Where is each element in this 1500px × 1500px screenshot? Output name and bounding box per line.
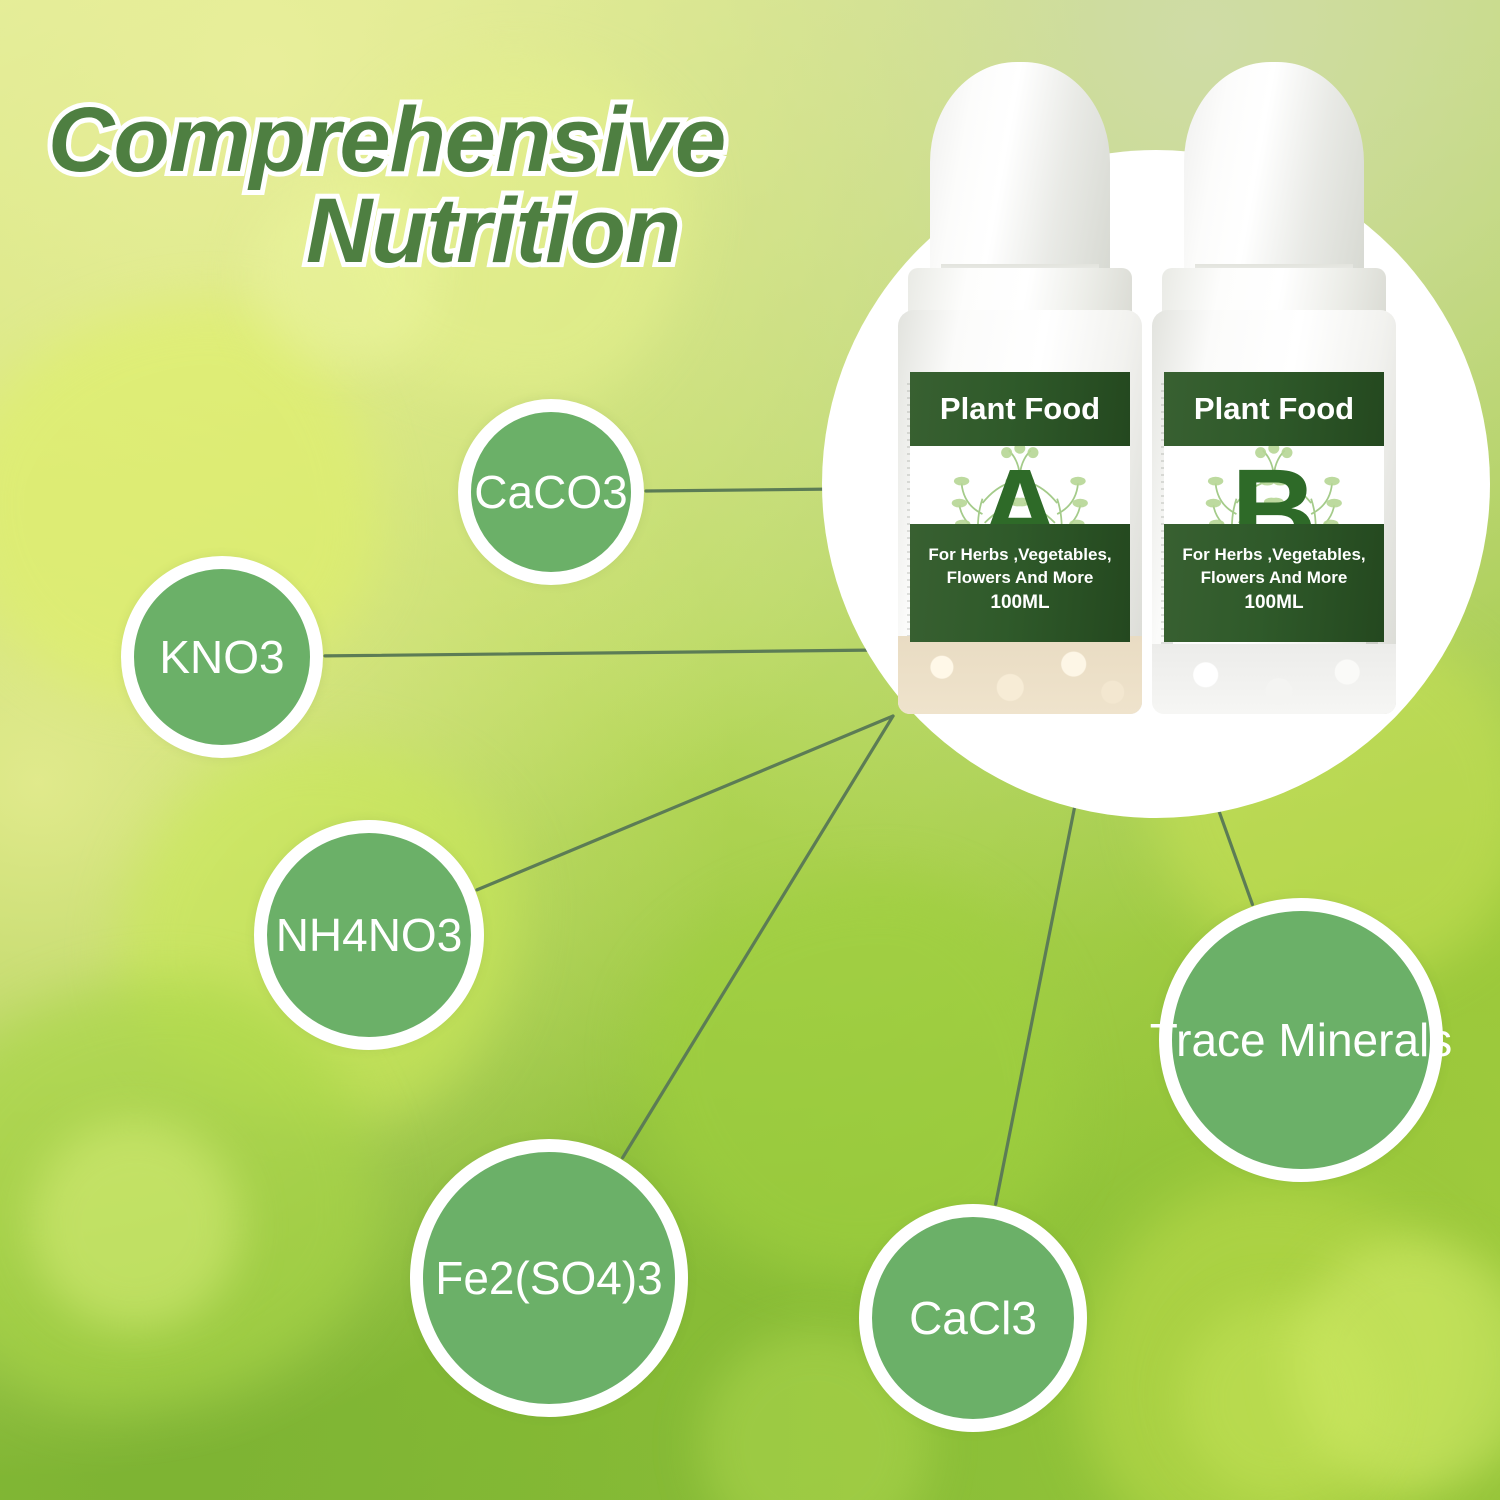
- connector-line-caco3: [646, 489, 840, 491]
- title-line-1: Comprehensive: [48, 89, 725, 191]
- nutrient-bubble-kno3[interactable]: KNO3: [121, 556, 323, 758]
- bottle-a-usage-line-2: Flowers And More: [910, 567, 1130, 590]
- bottle-a-brand-band: Plant Food: [910, 372, 1130, 446]
- connector-line-nh4no3: [477, 716, 893, 890]
- bottle-b-cap: [1184, 62, 1364, 280]
- bottle-a[interactable]: Plant Food: [898, 62, 1142, 714]
- bottle-a-body: Plant Food: [898, 310, 1142, 714]
- nutrient-bubble-label: CaCO3: [474, 465, 627, 519]
- nutrient-bubble-caco3[interactable]: CaCO3: [458, 399, 644, 585]
- bottle-b-usage-line-2: Flowers And More: [1164, 567, 1384, 590]
- connector-line-kno3: [325, 650, 880, 656]
- bottle-b-granules: [1152, 644, 1396, 714]
- nutrient-bubble-nh4no3[interactable]: NH4NO3: [254, 820, 484, 1050]
- page-title: Comprehensive Nutrition: [48, 95, 928, 277]
- connector-line-cacl3: [996, 780, 1080, 1204]
- bottle-a-volume: 100ML: [910, 590, 1130, 616]
- bottle-b-label: Plant Food: [1164, 372, 1384, 642]
- bottle-b-body: Plant Food: [1152, 310, 1396, 714]
- nutrient-bubble-label: CaCl3: [909, 1291, 1037, 1345]
- bottle-b-brand-band: Plant Food: [1164, 372, 1384, 446]
- nutrient-bubble-label: KNO3: [159, 630, 284, 684]
- connector-line-fe2so43: [623, 716, 893, 1158]
- connector-line-trace-minerals: [1215, 800, 1252, 904]
- bottle-a-granules: [898, 636, 1142, 714]
- bottle-a-cap: [930, 62, 1110, 280]
- bottle-a-brand: Plant Food: [940, 391, 1100, 426]
- nutrient-bubble-label: Fe2(SO4)3: [435, 1251, 663, 1305]
- bottle-a-label: Plant Food: [910, 372, 1130, 642]
- title-line-2: Nutrition: [48, 186, 928, 277]
- nutrient-bubble-trace-minerals[interactable]: Trace Minerals: [1159, 898, 1443, 1182]
- nutrient-bubble-fe2so43[interactable]: Fe2(SO4)3: [410, 1139, 688, 1417]
- nutrient-bubble-cacl3[interactable]: CaCl3: [859, 1204, 1087, 1432]
- bottle-b-brand: Plant Food: [1194, 391, 1354, 426]
- bottle-a-usage-band: For Herbs ,Vegetables, Flowers And More …: [910, 524, 1130, 642]
- bottle-b-usage-band: For Herbs ,Vegetables, Flowers And More …: [1164, 524, 1384, 642]
- bottle-b-volume: 100ML: [1164, 590, 1384, 616]
- nutrient-bubble-label: NH4NO3: [276, 908, 463, 962]
- bottle-a-usage-line-1: For Herbs ,Vegetables,: [910, 544, 1130, 567]
- bottle-b-usage-line-1: For Herbs ,Vegetables,: [1164, 544, 1384, 567]
- bottle-b[interactable]: Plant Food: [1152, 62, 1396, 714]
- nutrient-bubble-label: Trace Minerals: [1150, 1013, 1452, 1067]
